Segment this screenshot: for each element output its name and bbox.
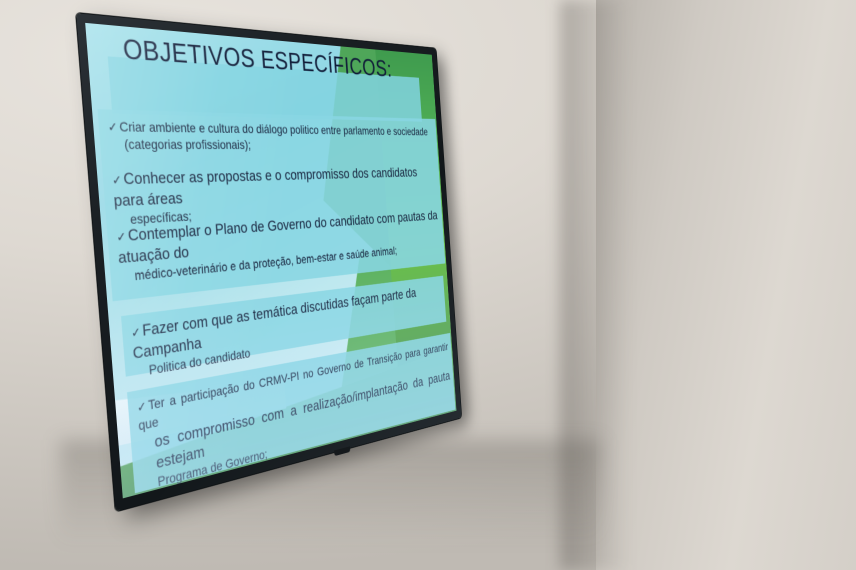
television: OBJETIVOS ESPECÍFICOS: ✓Criar ambiente e… <box>76 13 462 511</box>
slide-bullet-group-primary: ✓Criar ambiente e cultura do diálogo pol… <box>97 109 445 301</box>
bullet-1-line-1: Criar ambiente e cultura do diálogo poli… <box>119 119 428 138</box>
bullet-item-1: ✓Criar ambiente e cultura do diálogo pol… <box>107 117 434 154</box>
bullet-1-line-2: (categorias profissionais); <box>124 136 435 153</box>
photo-scene: OBJETIVOS ESPECÍFICOS: ✓Criar ambiente e… <box>0 0 856 570</box>
television-perspective-wrapper: OBJETIVOS ESPECÍFICOS: ✓Criar ambiente e… <box>0 0 856 570</box>
